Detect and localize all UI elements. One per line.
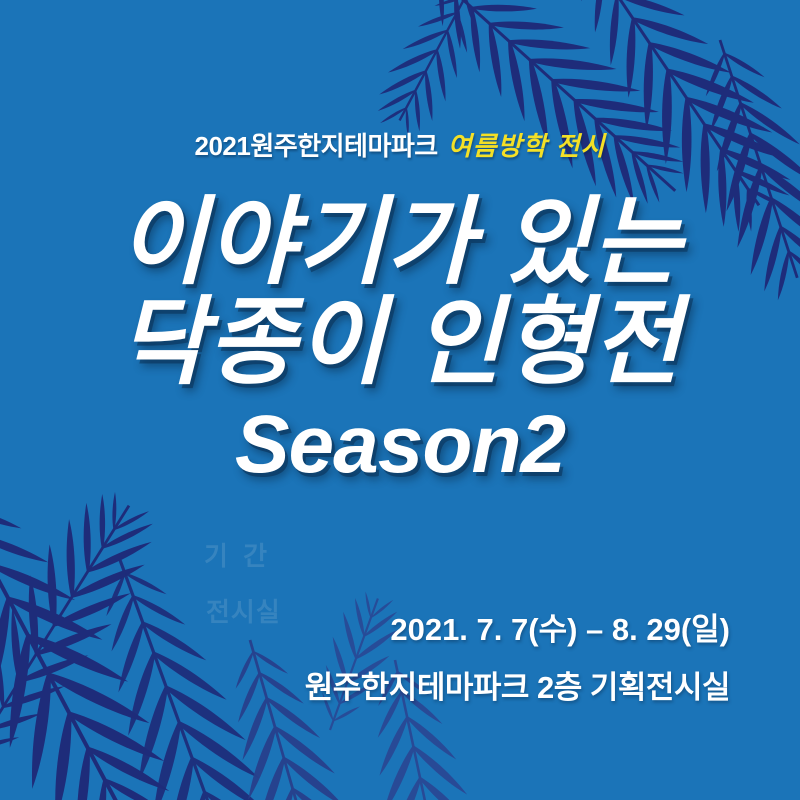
- program-label: 여름방학 전시: [448, 131, 606, 161]
- title-line-1: 이야기가 있는: [0, 196, 800, 290]
- organizer-label: 2021원주한지테마파크: [195, 131, 438, 161]
- exhibition-dates: 2021. 7. 7(수) – 8. 29(일): [305, 612, 730, 648]
- title-line-2: 닥종이 인형전: [0, 296, 800, 390]
- exhibition-poster: 기 간 전시실 2021원주한지테마파크여름방학 전시 이야기가 있는 닥종이 …: [0, 0, 800, 800]
- exhibition-info: 2021. 7. 7(수) – 8. 29(일) 원주한지테마파크 2층 기획전…: [305, 612, 730, 705]
- poster-content: 2021원주한지테마파크여름방학 전시 이야기가 있는 닥종이 인형전 Seas…: [0, 0, 800, 800]
- exhibition-venue: 원주한지테마파크 2층 기획전시실: [305, 670, 730, 706]
- season-label: Season2: [0, 404, 800, 486]
- eyebrow-line: 2021원주한지테마파크여름방학 전시: [0, 133, 800, 159]
- poster-title: 이야기가 있는 닥종이 인형전 Season2: [0, 196, 800, 486]
